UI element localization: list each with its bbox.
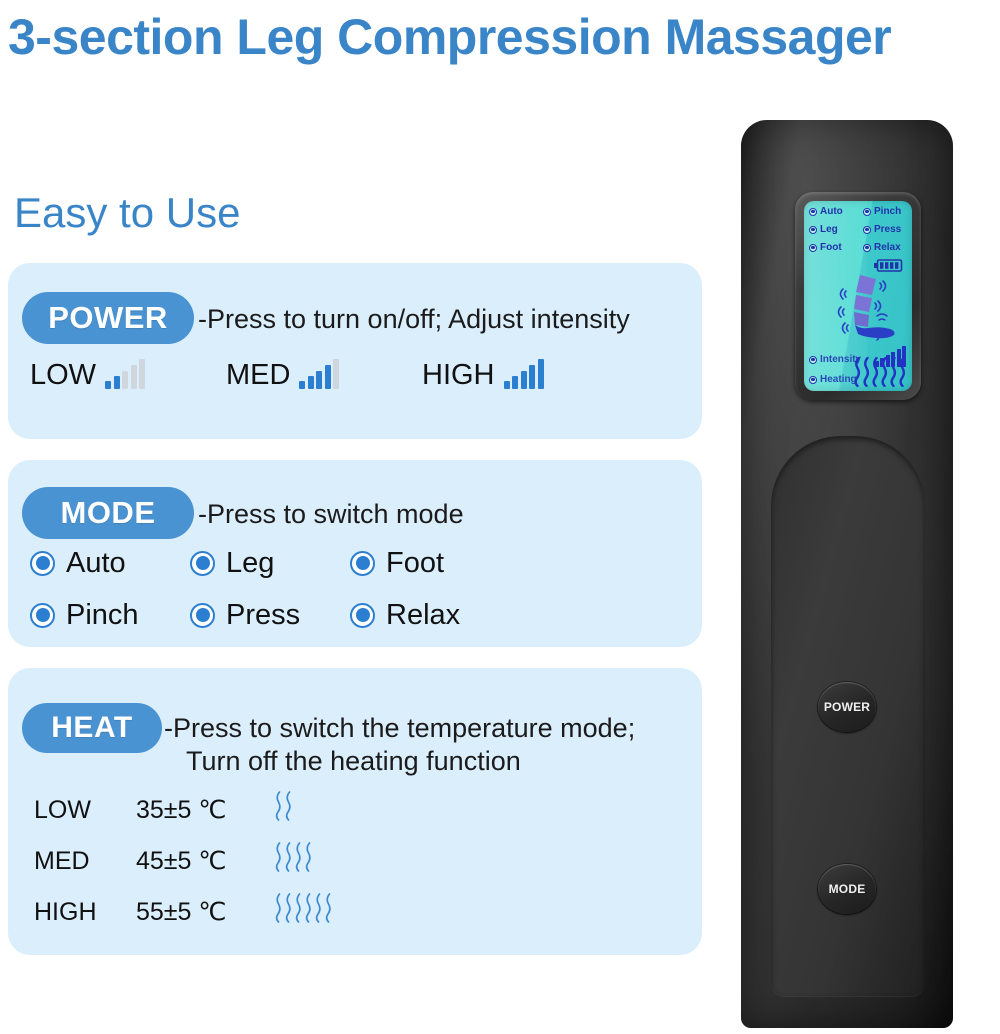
lcd-mode-auto: Auto [809,206,843,217]
lcd-radio-icon [809,226,817,234]
heat-row: HIGH55±5 ℃ [34,895,674,929]
mode-description: -Press to switch mode [198,498,698,531]
mode-option-label: Relax [386,600,460,630]
heat-wave-icon [294,893,303,923]
intensity-level-label: MED [226,360,290,390]
heat-wave-icon [862,357,871,387]
lcd-intensity-radio-icon [809,356,817,364]
mode-option-foot[interactable]: Foot [350,548,444,578]
heat-wave-icon [274,791,283,821]
heat-wave-icon [871,357,880,387]
remote-power-button[interactable]: POWER [818,682,876,732]
lcd-mode-foot: Foot [809,242,842,253]
heat-level-label: MED [34,844,90,878]
heat-wave-icon [284,893,293,923]
heat-wave-icon [880,357,889,387]
remote-control: AutoLegFootPinchPressRelax [741,120,953,1028]
radio-icon[interactable] [30,551,55,576]
lcd-radio-icon [863,244,871,252]
lcd-mode-label: Auto [820,206,843,217]
radio-icon[interactable] [30,603,55,628]
lcd-heating-label: Heating [820,374,857,385]
lcd-mode-label: Leg [820,224,838,235]
intensity-level-high: HIGH [422,360,544,390]
heat-row: MED45±5 ℃ [34,844,674,878]
lcd-radio-icon [809,208,817,216]
signal-bars-icon [504,360,544,390]
lcd-screen: AutoLegFootPinchPressRelax [804,201,912,391]
page-title: 3-section Leg Compression Massager [8,8,928,66]
lcd-bezel: AutoLegFootPinchPressRelax [795,192,921,400]
heat-level-label: LOW [34,793,91,827]
heat-wave-group [274,893,333,923]
page-subtitle: Easy to Use [14,188,240,238]
heat-temperature-value: 35±5 ℃ [136,793,226,827]
mode-option-label: Auto [66,548,126,578]
power-description: -Press to turn on/off; Adjust intensity [198,303,718,336]
lcd-heating-waves [853,357,907,387]
intensity-level-label: HIGH [422,360,495,390]
lcd-heating-radio-icon [809,376,817,384]
lcd-mode-leg: Leg [809,224,838,235]
heat-wave-group [274,842,313,872]
heat-description-line1: -Press to switch the temperature mode; [164,713,635,743]
lcd-mode-label: Pinch [874,206,901,217]
remote-mode-button[interactable]: MODE [818,864,876,914]
heat-wave-icon [898,357,907,387]
radio-icon[interactable] [190,603,215,628]
power-pill-label: POWER [22,292,194,344]
heat-row: LOW35±5 ℃ [34,793,674,827]
heat-wave-icon [304,842,313,872]
heat-wave-icon [314,893,323,923]
lcd-mode-label: Foot [820,242,842,253]
heat-wave-icon [274,893,283,923]
signal-bars-icon [299,360,339,390]
intensity-level-low: LOW [30,360,145,390]
mode-option-label: Pinch [66,600,139,630]
heat-wave-icon [889,357,898,387]
heat-description-line2: Turn off the heating function [164,745,704,778]
lcd-mode-label: Press [874,224,901,235]
leg-massage-illustration [822,273,912,345]
lcd-mode-pinch: Pinch [863,206,901,217]
heat-wave-icon [304,893,313,923]
intensity-levels: LOWMEDHIGH [30,360,690,406]
mode-option-label: Leg [226,548,274,578]
heat-wave-group [274,791,293,821]
mode-option-label: Press [226,600,300,630]
mode-option-pinch[interactable]: Pinch [30,600,139,630]
mode-option-auto[interactable]: Auto [30,548,126,578]
intensity-level-label: LOW [30,360,96,390]
battery-icon [874,259,904,272]
radio-icon[interactable] [190,551,215,576]
heat-description: -Press to switch the temperature mode; T… [164,712,704,778]
mode-option-leg[interactable]: Leg [190,548,274,578]
lcd-radio-icon [863,208,871,216]
heat-wave-icon [284,842,293,872]
lcd-mode-relax: Relax [863,242,901,253]
heat-wave-icon [284,791,293,821]
radio-icon[interactable] [350,551,375,576]
heat-wave-icon [853,357,862,387]
heat-level-label: HIGH [34,895,97,929]
signal-bars-icon [105,360,145,390]
power-card [8,263,702,439]
mode-option-press[interactable]: Press [190,600,300,630]
heat-wave-icon [274,842,283,872]
heat-wave-icon [294,842,303,872]
mode-pill-label: MODE [22,487,194,539]
lcd-radio-icon [809,244,817,252]
heat-pill-label: HEAT [22,703,162,753]
heat-wave-icon [324,893,333,923]
mode-option-label: Foot [386,548,444,578]
heat-temperature-value: 45±5 ℃ [136,844,226,878]
lcd-radio-icon [863,226,871,234]
lcd-mode-label: Relax [874,242,901,253]
lcd-mode-press: Press [863,224,901,235]
lcd-heating-row: Heating [809,374,857,385]
intensity-level-med: MED [226,360,339,390]
mode-option-relax[interactable]: Relax [350,600,460,630]
heat-temperature-value: 55±5 ℃ [136,895,226,929]
product-infographic: 3-section Leg Compression Massager Easy … [0,0,1000,1034]
radio-icon[interactable] [350,603,375,628]
